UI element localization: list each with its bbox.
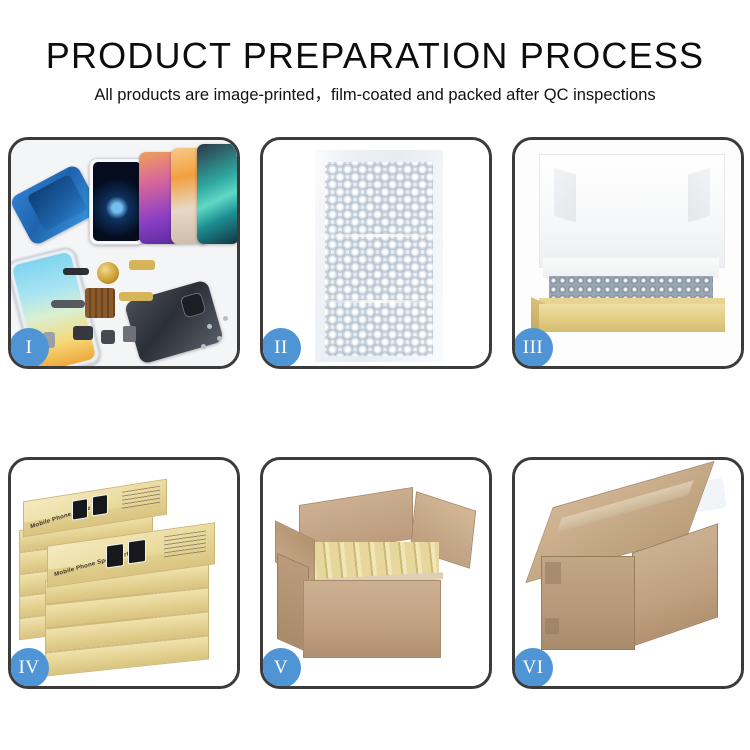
step-badge-2: II	[261, 328, 301, 368]
step-badge-6: VI	[513, 648, 553, 688]
header: PRODUCT PREPARATION PROCESS All products…	[0, 34, 750, 106]
carton-seam-tab	[545, 618, 559, 634]
vibrator-motor-icon	[97, 262, 119, 284]
teal-phone-icon	[197, 144, 237, 244]
screw-icon	[223, 316, 228, 321]
screw-icon	[217, 336, 222, 341]
box-print-phone-image	[92, 494, 108, 517]
flex-cable-icon	[119, 292, 153, 301]
logic-board-icon	[85, 288, 115, 318]
page-subtitle: All products are image-printed，film-coat…	[0, 84, 750, 106]
bag-seam	[315, 300, 443, 303]
sim-tray-icon	[123, 326, 136, 342]
bubble-wrap-bag-icon	[315, 150, 443, 362]
product-preparation-infographic: PRODUCT PREPARATION PROCESS All products…	[0, 0, 750, 750]
flex-cable-icon	[129, 260, 155, 270]
step-panel-6: VI	[512, 457, 744, 689]
box-print-phone-image	[128, 539, 146, 565]
step-panel-4: Mobile Phone Spare Parts Mobile Phone Sp…	[8, 457, 240, 689]
screw-icon	[207, 324, 212, 329]
bubble-wrap-illustration	[263, 140, 489, 366]
sealed-carton-illustration	[515, 460, 741, 686]
speaker-icon	[73, 326, 93, 340]
phone-parts-illustration	[11, 140, 237, 366]
step-badge-1: I	[9, 328, 49, 368]
carton-filling-illustration	[263, 460, 489, 686]
foam-sheet-icon	[543, 258, 719, 278]
white-box-lid-icon	[539, 154, 725, 268]
screen-protector-icon	[89, 158, 145, 245]
box-stack-illustration: Mobile Phone Spare Parts Mobile Phone Sp…	[11, 460, 237, 686]
lid-flap-left	[554, 167, 576, 222]
carton-seam-tab	[545, 562, 561, 584]
button-part-icon	[101, 330, 115, 344]
blue-display-frame-icon	[11, 163, 101, 246]
inner-box-illustration	[515, 140, 741, 366]
step-badge-5: V	[261, 648, 301, 688]
step-panel-1: I	[8, 137, 240, 369]
bubble-pattern	[325, 162, 433, 356]
carton-front-panel	[303, 580, 441, 658]
step-panel-5: V	[260, 457, 492, 689]
antenna-strip-icon	[63, 268, 89, 275]
step-panel-2: II	[260, 137, 492, 369]
box-print-phone-image	[72, 498, 88, 521]
box-base-front	[539, 304, 725, 332]
bag-seam	[315, 234, 443, 237]
box-print-text-lines	[164, 530, 206, 558]
screw-icon	[201, 344, 206, 349]
box-print-phone-image	[106, 543, 124, 569]
step-badge-4: IV	[9, 648, 49, 688]
step-badge-3: III	[513, 328, 553, 368]
ribbon-cable-icon	[51, 300, 85, 308]
lid-flap-right	[688, 167, 710, 222]
steps-grid: I II	[8, 137, 744, 689]
step-panel-3: III	[512, 137, 744, 369]
page-title: PRODUCT PREPARATION PROCESS	[0, 34, 750, 78]
